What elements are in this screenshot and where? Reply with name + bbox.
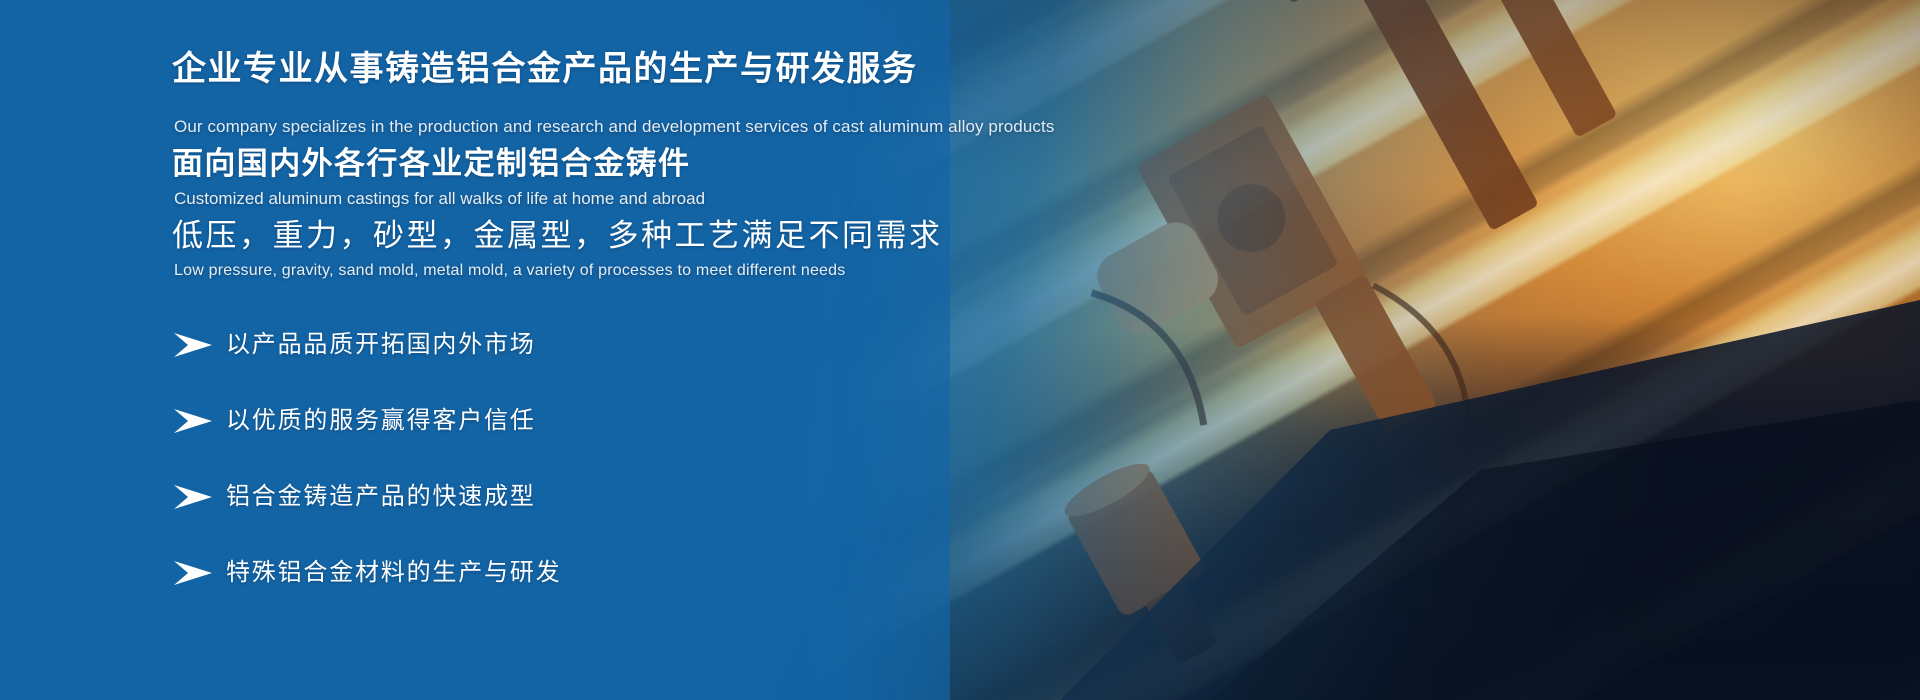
arrow-right-icon <box>172 407 214 435</box>
hero-banner: 企业专业从事铸造铝合金产品的生产与研发服务 Our company specia… <box>0 0 1920 700</box>
arrow-right-icon <box>172 483 214 511</box>
list-item-label: 铝合金铸造产品的快速成型 <box>226 485 536 509</box>
list-item[interactable]: 特殊铝合金材料的生产与研发 <box>172 544 872 602</box>
banner-content: 企业专业从事铸造铝合金产品的生产与研发服务 Our company specia… <box>172 0 1272 700</box>
list-item-label: 以优质的服务赢得客户信任 <box>226 409 536 433</box>
arrow-right-icon <box>172 559 214 587</box>
list-item[interactable]: 铝合金铸造产品的快速成型 <box>172 468 872 526</box>
list-item-label: 以产品品质开拓国内外市场 <box>226 333 536 357</box>
list-item[interactable]: 以优质的服务赢得客户信任 <box>172 392 872 450</box>
headline-1-en: Our company specializes in the productio… <box>174 117 1054 137</box>
headline-3-zh: 低压，重力，砂型，金属型，多种工艺满足不同需求 <box>172 216 943 256</box>
list-item-label: 特殊铝合金材料的生产与研发 <box>226 561 561 585</box>
headline-2-en: Customized aluminum castings for all wal… <box>174 189 705 209</box>
arrow-right-icon <box>172 331 214 359</box>
headline-3-en: Low pressure, gravity, sand mold, metal … <box>174 262 845 280</box>
list-item[interactable]: 以产品品质开拓国内外市场 <box>172 316 872 374</box>
headline-2-zh: 面向国内外各行各业定制铝合金铸件 <box>172 144 690 184</box>
headline-1-zh: 企业专业从事铸造铝合金产品的生产与研发服务 <box>172 48 918 91</box>
feature-bullet-list: 以产品品质开拓国内外市场 以优质的服务赢得客户信任 铝合金铸造产品的快速成型 特… <box>172 316 872 620</box>
